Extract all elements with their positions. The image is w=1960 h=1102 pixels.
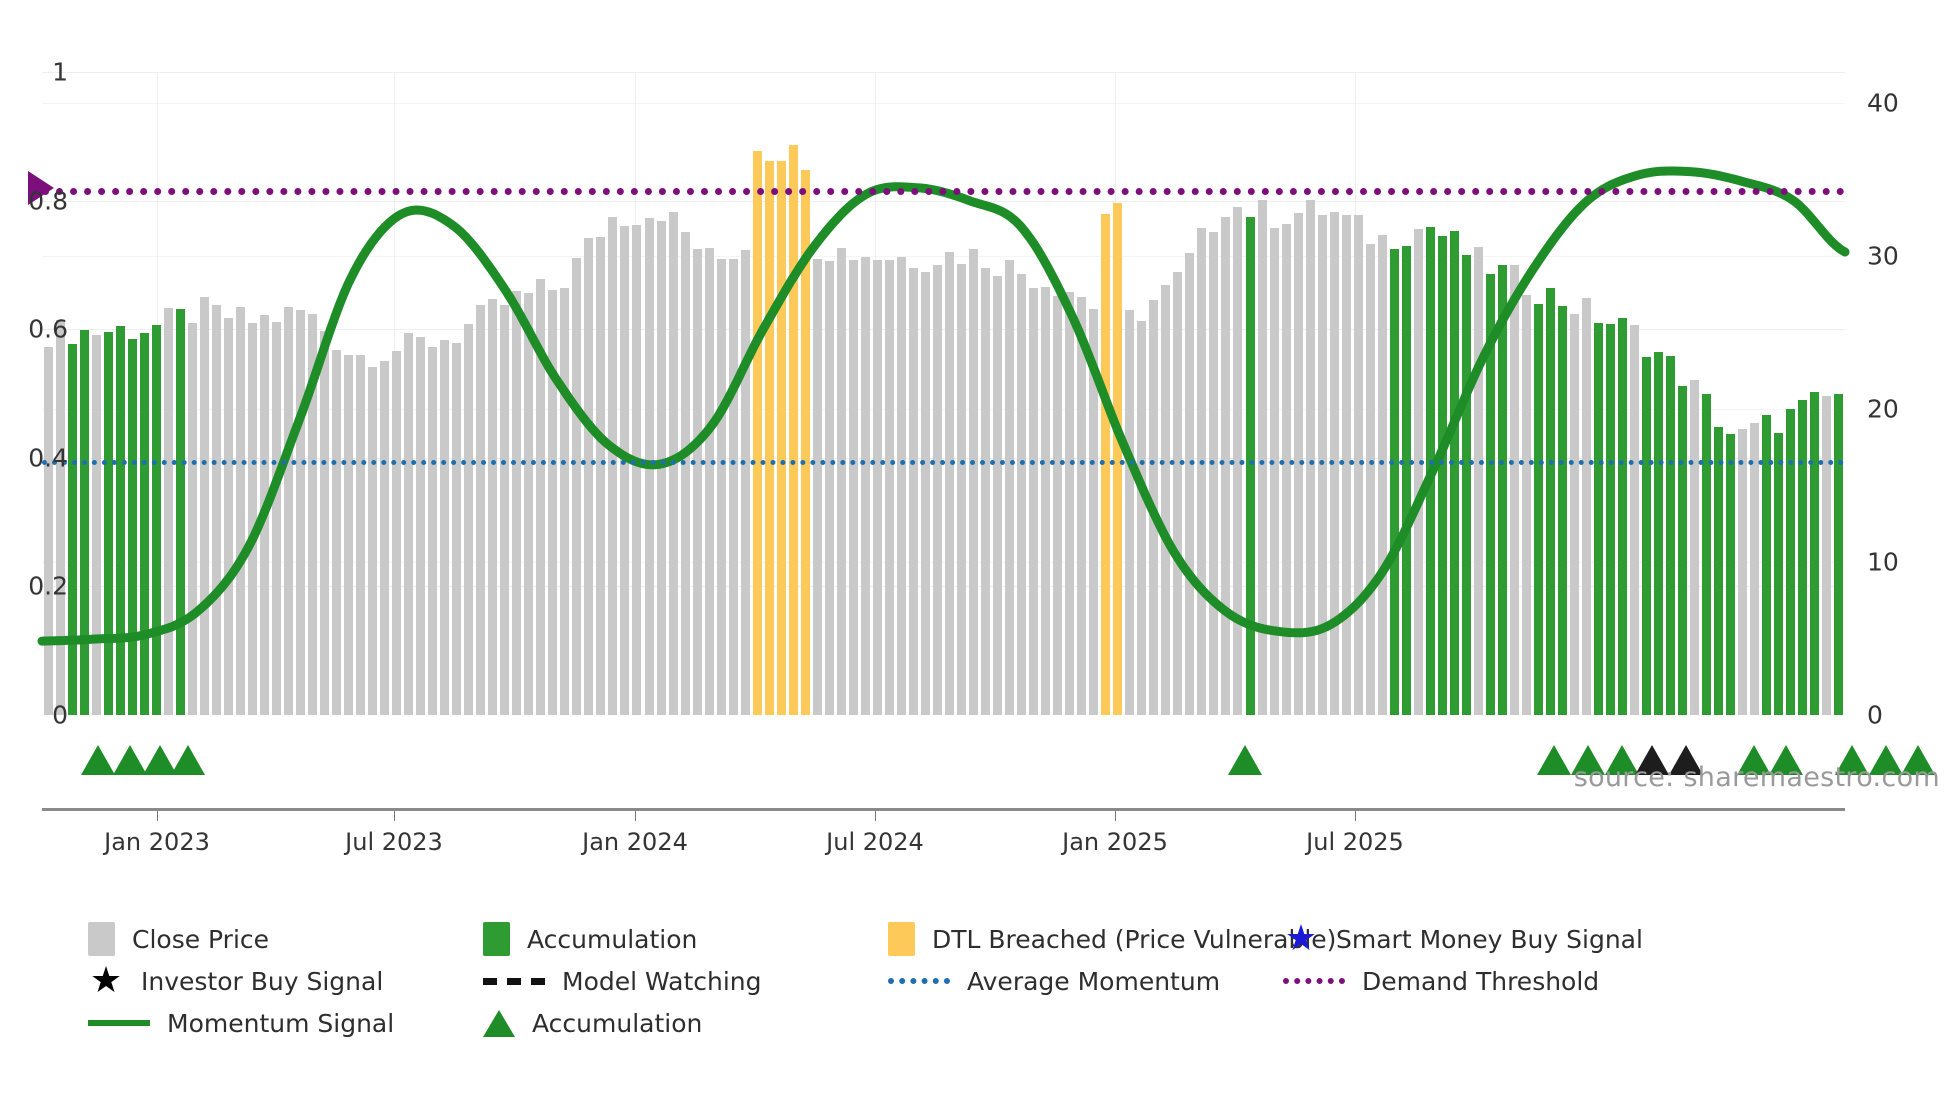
legend-label: Accumulation	[527, 925, 697, 954]
legend-momentum-signal[interactable]: Momentum Signal	[88, 1009, 394, 1038]
x-axis-tick-label: Jan 2024	[582, 828, 688, 856]
y-axis-right-tick-label: 20	[1867, 394, 1937, 423]
demand-threshold-line	[42, 188, 1845, 195]
momentum-signal-curve	[42, 72, 1845, 715]
x-axis-tick-label: Jul 2024	[826, 828, 924, 856]
x-axis-tick-mark	[394, 811, 395, 821]
x-axis-tick-mark	[1355, 811, 1356, 821]
legend-dtl-breached[interactable]: DTL Breached (Price Vulnerable)	[888, 922, 1336, 956]
y-axis-right-tick-label: 30	[1867, 241, 1937, 270]
legend-investor-buy[interactable]: ★Investor Buy Signal	[88, 967, 383, 996]
y-axis-left-tick-label: 0.8	[0, 186, 68, 215]
square-swatch-icon	[88, 922, 115, 956]
star-icon: ★	[1283, 925, 1319, 953]
solid-line-icon	[88, 1020, 150, 1026]
accumulation-marker	[1537, 745, 1571, 775]
legend-label: Investor Buy Signal	[141, 967, 383, 996]
legend-label: Momentum Signal	[167, 1009, 394, 1038]
accumulation-marker	[171, 745, 205, 775]
x-axis-tick-mark	[635, 811, 636, 821]
x-axis-tick-label: Jan 2025	[1062, 828, 1168, 856]
legend-demand-threshold[interactable]: Demand Threshold	[1283, 967, 1599, 996]
legend-label: Accumulation	[532, 1009, 702, 1038]
dotted-line-icon	[1283, 978, 1345, 984]
triangle-icon	[483, 1010, 515, 1037]
legend-row: Close PriceAccumulationDTL Breached (Pri…	[88, 920, 1948, 958]
x-axis-line	[42, 808, 1845, 811]
dotted-line-icon	[888, 978, 950, 984]
average-momentum-line	[42, 460, 1845, 465]
x-axis-tick-mark	[875, 811, 876, 821]
chart-legend: Close PriceAccumulationDTL Breached (Pri…	[88, 920, 1948, 1046]
accumulation-marker	[81, 745, 115, 775]
x-axis-tick-label: Jan 2023	[104, 828, 210, 856]
legend-label: Average Momentum	[967, 967, 1220, 996]
legend-model-watching[interactable]: Model Watching	[483, 967, 762, 996]
y-axis-left-tick-label: 0.6	[0, 315, 68, 344]
y-axis-left-tick-label: 0.4	[0, 443, 68, 472]
legend-accumulation-bar[interactable]: Accumulation	[483, 922, 697, 956]
plot-area	[42, 72, 1845, 715]
square-swatch-icon	[888, 922, 915, 956]
legend-smart-money-buy[interactable]: ★Smart Money Buy Signal	[1283, 925, 1643, 954]
accumulation-marker	[1228, 745, 1262, 775]
y-axis-left-tick-label: 0	[0, 701, 68, 730]
legend-row: Momentum SignalAccumulation	[88, 1004, 1948, 1042]
chart-canvas: 10.80.60.40.20 403020100 Jan 2023Jul 202…	[0, 0, 1960, 1102]
legend-label: Demand Threshold	[1362, 967, 1599, 996]
y-axis-left-tick-label: 0.2	[0, 572, 68, 601]
star-icon: ★	[88, 967, 124, 995]
legend-close-price[interactable]: Close Price	[88, 922, 269, 956]
y-axis-right-tick-label: 10	[1867, 547, 1937, 576]
x-axis-tick-label: Jul 2023	[345, 828, 443, 856]
legend-label: Smart Money Buy Signal	[1336, 925, 1643, 954]
source-watermark: source: sharemaestro.com	[1574, 762, 1940, 793]
y-axis-right-tick-label: 0	[1867, 701, 1937, 730]
y-axis-left-tick-label: 1	[0, 58, 68, 87]
accumulation-marker	[113, 745, 147, 775]
dashed-line-icon	[483, 978, 545, 985]
legend-label: DTL Breached (Price Vulnerable)	[932, 925, 1336, 954]
x-axis-tick-mark	[1115, 811, 1116, 821]
x-axis-tick-label: Jul 2025	[1306, 828, 1404, 856]
legend-label: Close Price	[132, 925, 269, 954]
x-axis-tick-mark	[157, 811, 158, 821]
legend-row: ★Investor Buy SignalModel WatchingAverag…	[88, 962, 1948, 1000]
square-swatch-icon	[483, 922, 510, 956]
legend-average-momentum[interactable]: Average Momentum	[888, 967, 1220, 996]
legend-label: Model Watching	[562, 967, 762, 996]
legend-accumulation-triangle[interactable]: Accumulation	[483, 1009, 702, 1038]
y-axis-right-tick-label: 40	[1867, 88, 1937, 117]
